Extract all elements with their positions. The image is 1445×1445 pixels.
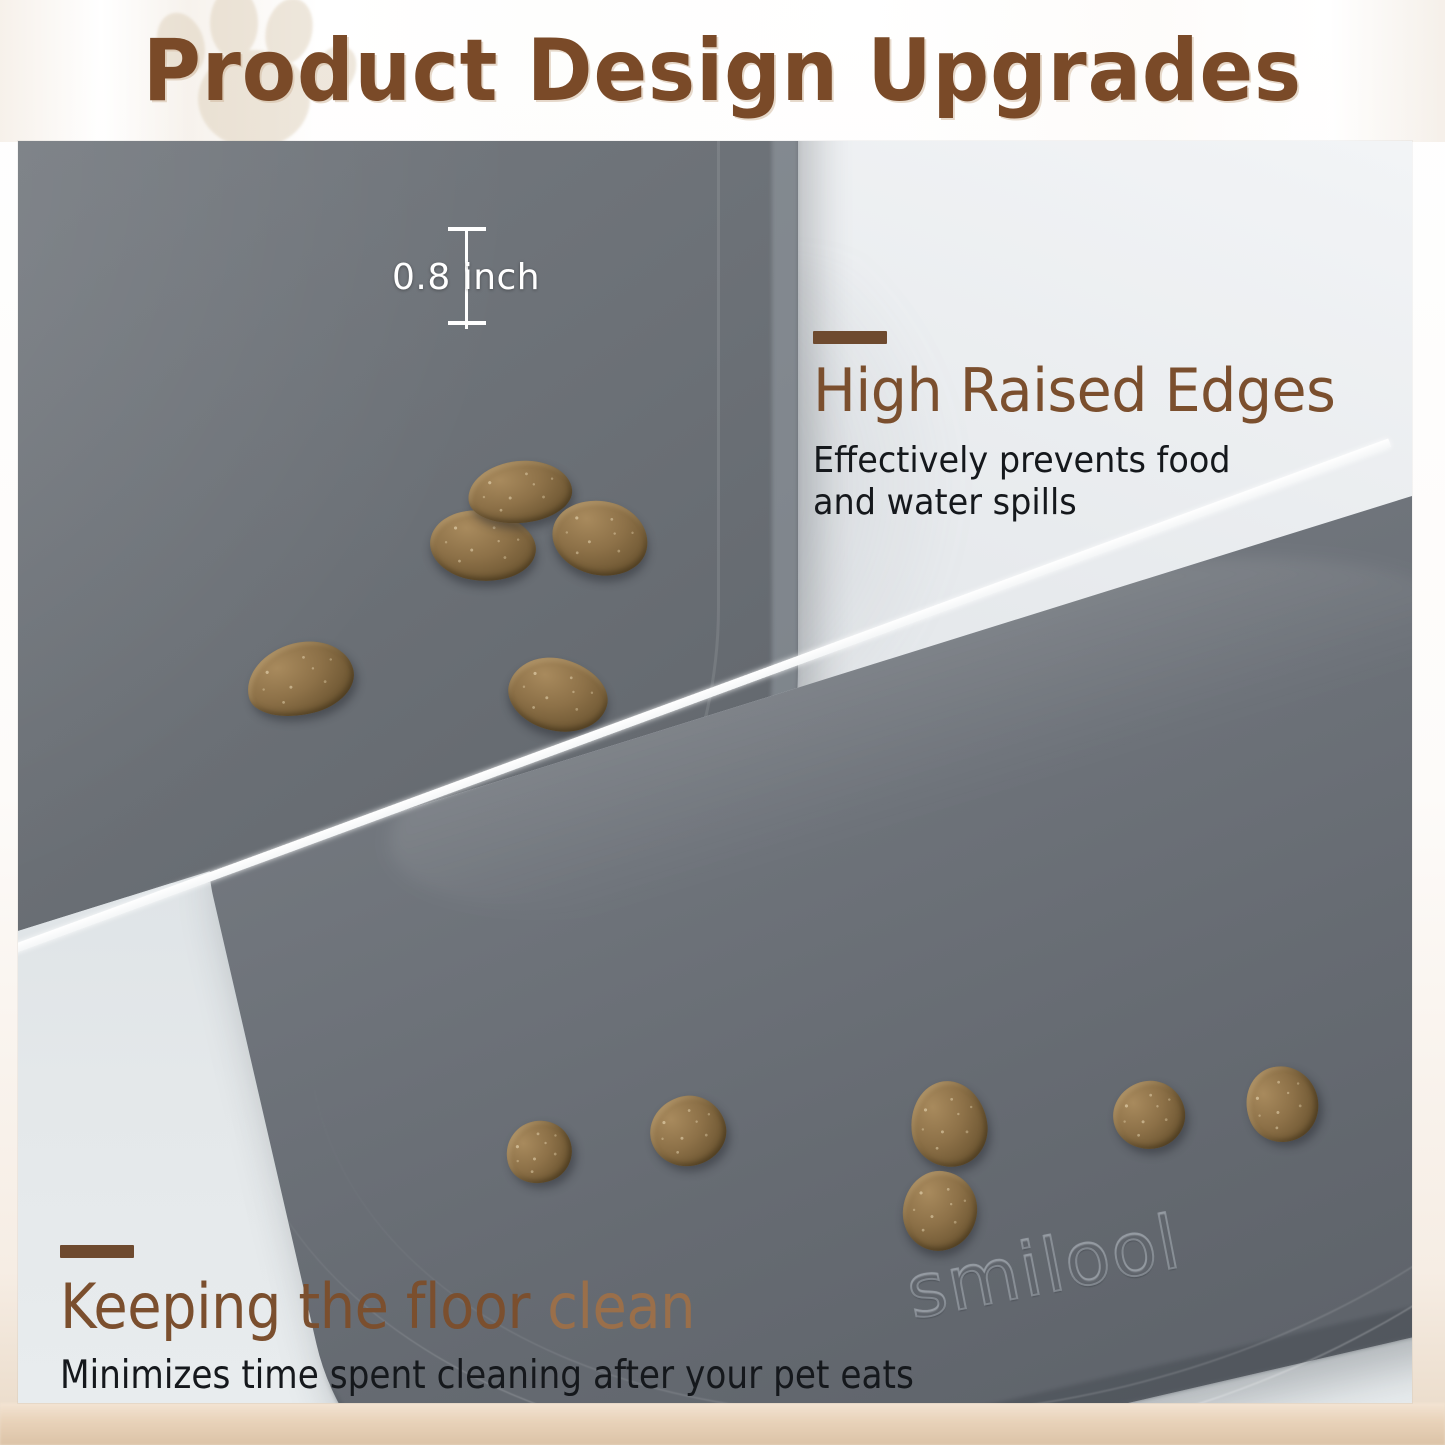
dimension-label: 0.8 inch	[392, 257, 540, 298]
dimension-annotation: 0.8 inch	[420, 221, 600, 341]
page-root: Product Design Upgrades smilool	[0, 0, 1445, 1445]
dimension-cap-bottom	[448, 321, 486, 325]
page-title: Product Design Upgrades	[58, 12, 1387, 130]
feature-block-keeping-floor-clean: Keeping the floor clean Minimizes time s…	[60, 1245, 1180, 1399]
feature-title: High Raised Edges	[813, 356, 1402, 426]
accent-bar-icon	[813, 331, 887, 344]
feature-block-high-raised-edges: High Raised Edges Effectively prevents f…	[813, 331, 1412, 525]
feature-subtitle-line-2: and water spills	[813, 482, 1390, 524]
feature-title-part-2: clean	[547, 1270, 695, 1343]
accent-bar-icon	[60, 1245, 134, 1258]
feature-title: Keeping the floor clean	[60, 1270, 1068, 1343]
feature-subtitle: Effectively prevents food and water spil…	[813, 440, 1390, 525]
product-photo-composite: smilool 0.8 inch High Raised Edges Effec…	[18, 141, 1412, 1403]
feature-subtitle: Minimizes time spent cleaning after your…	[60, 1353, 1046, 1399]
feature-subtitle-line-1: Effectively prevents food	[813, 440, 1390, 482]
background-floor-strip	[0, 1403, 1445, 1445]
feature-title-part-1: Keeping the floor	[60, 1270, 547, 1343]
